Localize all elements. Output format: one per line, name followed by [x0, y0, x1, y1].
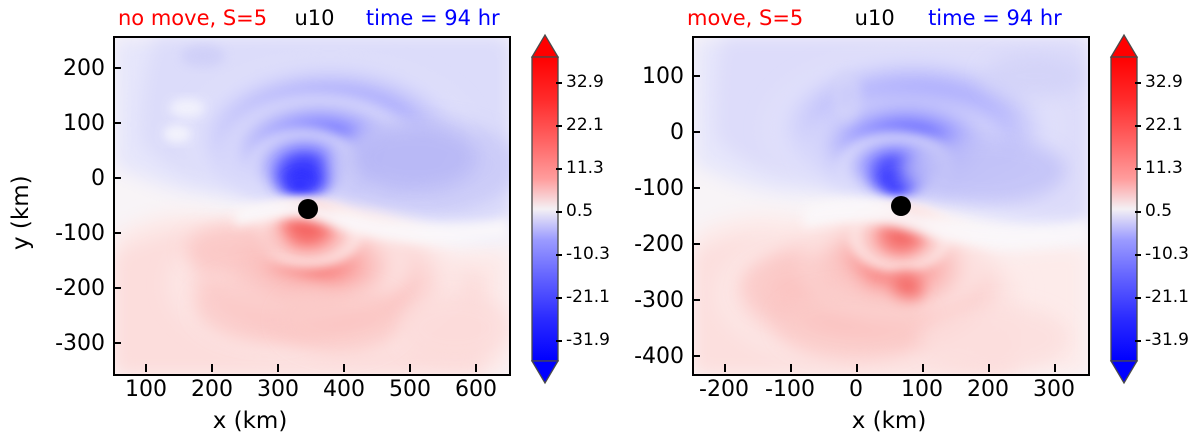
panel-left-ylabel: y (km) — [8, 175, 34, 250]
panel-right-plot-area[interactable] — [692, 36, 1090, 376]
colorbar-tick-mark — [1135, 211, 1141, 213]
contour-blue-arm-east-inner — [353, 126, 477, 190]
ytick-mark — [113, 67, 121, 69]
panel-right-cbtick-2: 11.3 — [1145, 158, 1183, 178]
figure-root: no move, S=5 u10 time = 94 hr — [0, 0, 1193, 447]
xtick-mark — [1054, 364, 1056, 372]
contour-blue-speck-1 — [181, 45, 225, 67]
panel-left-xlabel: x (km) — [213, 408, 288, 434]
xtick-mark — [790, 364, 792, 372]
colorbar-tick-mark — [556, 297, 562, 299]
colorbar-tick-mark — [1135, 168, 1141, 170]
panel-right-cbtick-0: 32.9 — [1145, 72, 1183, 92]
contour-blue-arm-east — [898, 136, 1066, 204]
xtick-mark — [922, 364, 924, 372]
colorbar-extend-bottom-arrow — [1111, 361, 1137, 383]
ytick-mark — [113, 232, 121, 234]
ytick-mark — [692, 75, 700, 77]
ytick-mark — [692, 131, 700, 133]
panel-right-xtick-300: 300 — [1009, 377, 1099, 402]
panel-right-cbtick-6: -31.9 — [1145, 330, 1189, 350]
colorbar-tick-mark — [556, 82, 562, 84]
panel-left-plot-area[interactable] — [113, 36, 511, 376]
colorbar-tick-mark — [556, 340, 562, 342]
panel-right-title-variable: u10 — [855, 6, 895, 30]
panel-left: no move, S=5 u10 time = 94 hr — [0, 0, 600, 447]
panel-right-ytick-n300: -300 — [608, 288, 684, 313]
xtick-mark — [277, 364, 279, 372]
panel-right-ytick-100: 100 — [608, 64, 684, 89]
colorbar-tick-mark — [1135, 297, 1141, 299]
ytick-mark — [113, 342, 121, 344]
panel-right-cbtick-1: 22.1 — [1145, 115, 1183, 135]
panel-right-title-time: time = 94 hr — [928, 6, 1062, 30]
colorbar-extend-top-arrow — [532, 35, 558, 57]
colorbar-tick-mark — [556, 211, 562, 213]
xtick-mark — [343, 364, 345, 372]
ytick-mark — [692, 355, 700, 357]
xtick-mark — [475, 364, 477, 372]
panel-left-ytick-n100: -100 — [33, 221, 105, 246]
contour-blue-speck-2 — [169, 98, 205, 118]
panel-right-cbtick-3: 0.5 — [1145, 201, 1172, 221]
panel-left-ytick-0: 0 — [33, 166, 105, 191]
panel-right-colorbar[interactable]: 32.9 22.1 11.3 0.5 -10.3 -21.1 -31.9 — [1107, 33, 1177, 385]
colorbar-tick-mark — [1135, 125, 1141, 127]
panel-left-title-experiment: no move, S=5 — [118, 6, 267, 30]
ytick-mark — [113, 122, 121, 124]
panel-left-ytick-n200: -200 — [33, 276, 105, 301]
ytick-mark — [692, 243, 700, 245]
colorbar-tick-mark — [1135, 254, 1141, 256]
contour-red-blob-southeast — [399, 294, 509, 362]
colorbar-extend-top-arrow — [1111, 35, 1137, 57]
colorbar-gradient-right — [1107, 33, 1141, 385]
panel-right: move, S=5 u10 time = 94 hr — [596, 0, 1193, 447]
xtick-mark — [145, 364, 147, 372]
contour-blue-speck-3 — [163, 125, 191, 143]
ytick-mark — [113, 177, 121, 179]
panel-left-title-time: time = 94 hr — [366, 6, 500, 30]
panel-right-xlabel: x (km) — [852, 408, 927, 434]
colorbar-extend-bottom-arrow — [532, 361, 558, 383]
xtick-mark — [211, 364, 213, 372]
contour-red-blob-west — [185, 224, 281, 276]
colorbar-tick-mark — [1135, 82, 1141, 84]
contour-blue-speck-1 — [830, 70, 862, 122]
panel-right-cbtick-5: -21.1 — [1145, 287, 1189, 307]
colorbar-tick-mark — [1135, 340, 1141, 342]
colorbar-tick-mark — [556, 254, 562, 256]
contour-blue-core-peak — [283, 171, 317, 197]
panel-left-ytick-100: 100 — [33, 111, 105, 136]
ytick-mark — [692, 187, 700, 189]
panel-right-ytick-n400: -400 — [608, 344, 684, 369]
xtick-mark — [856, 364, 858, 372]
contour-red-blob-southeast — [918, 304, 1070, 372]
panel-right-ytick-0: 0 — [608, 120, 684, 145]
panel-left-ytick-200: 200 — [33, 56, 105, 81]
storm-center-marker-left — [298, 199, 318, 219]
panel-right-title: move, S=5 u10 time = 94 hr — [687, 6, 1062, 30]
colorbar-tick-mark — [556, 125, 562, 127]
panel-left-cbtick-3: 0.5 — [566, 201, 593, 221]
panel-left-title: no move, S=5 u10 time = 94 hr — [118, 6, 500, 30]
panel-left-xtick-600: 600 — [431, 377, 521, 402]
ytick-mark — [113, 287, 121, 289]
xtick-mark — [988, 364, 990, 372]
xtick-mark — [409, 364, 411, 372]
panel-right-ytick-n200: -200 — [608, 232, 684, 257]
colorbar-gradient-left — [528, 33, 562, 385]
colorbar-body — [532, 57, 558, 361]
xtick-mark — [724, 364, 726, 372]
panel-left-title-variable: u10 — [295, 6, 335, 30]
contour-red-blob-south — [778, 288, 930, 360]
panel-right-title-experiment: move, S=5 — [687, 6, 803, 30]
storm-center-marker-right — [891, 196, 911, 216]
colorbar-tick-mark — [556, 168, 562, 170]
panel-right-cbtick-4: -10.3 — [1145, 244, 1189, 264]
contour-red-blob-south — [279, 286, 403, 354]
panel-left-colorbar[interactable]: 32.9 22.1 11.3 0.5 -10.3 -21.1 -31.9 — [528, 33, 598, 385]
contour-blue-blob-northeast — [982, 54, 1086, 98]
colorbar-body — [1111, 57, 1137, 361]
panel-left-ytick-n300: -300 — [33, 331, 105, 356]
ytick-mark — [692, 299, 700, 301]
panel-right-ytick-n100: -100 — [608, 176, 684, 201]
